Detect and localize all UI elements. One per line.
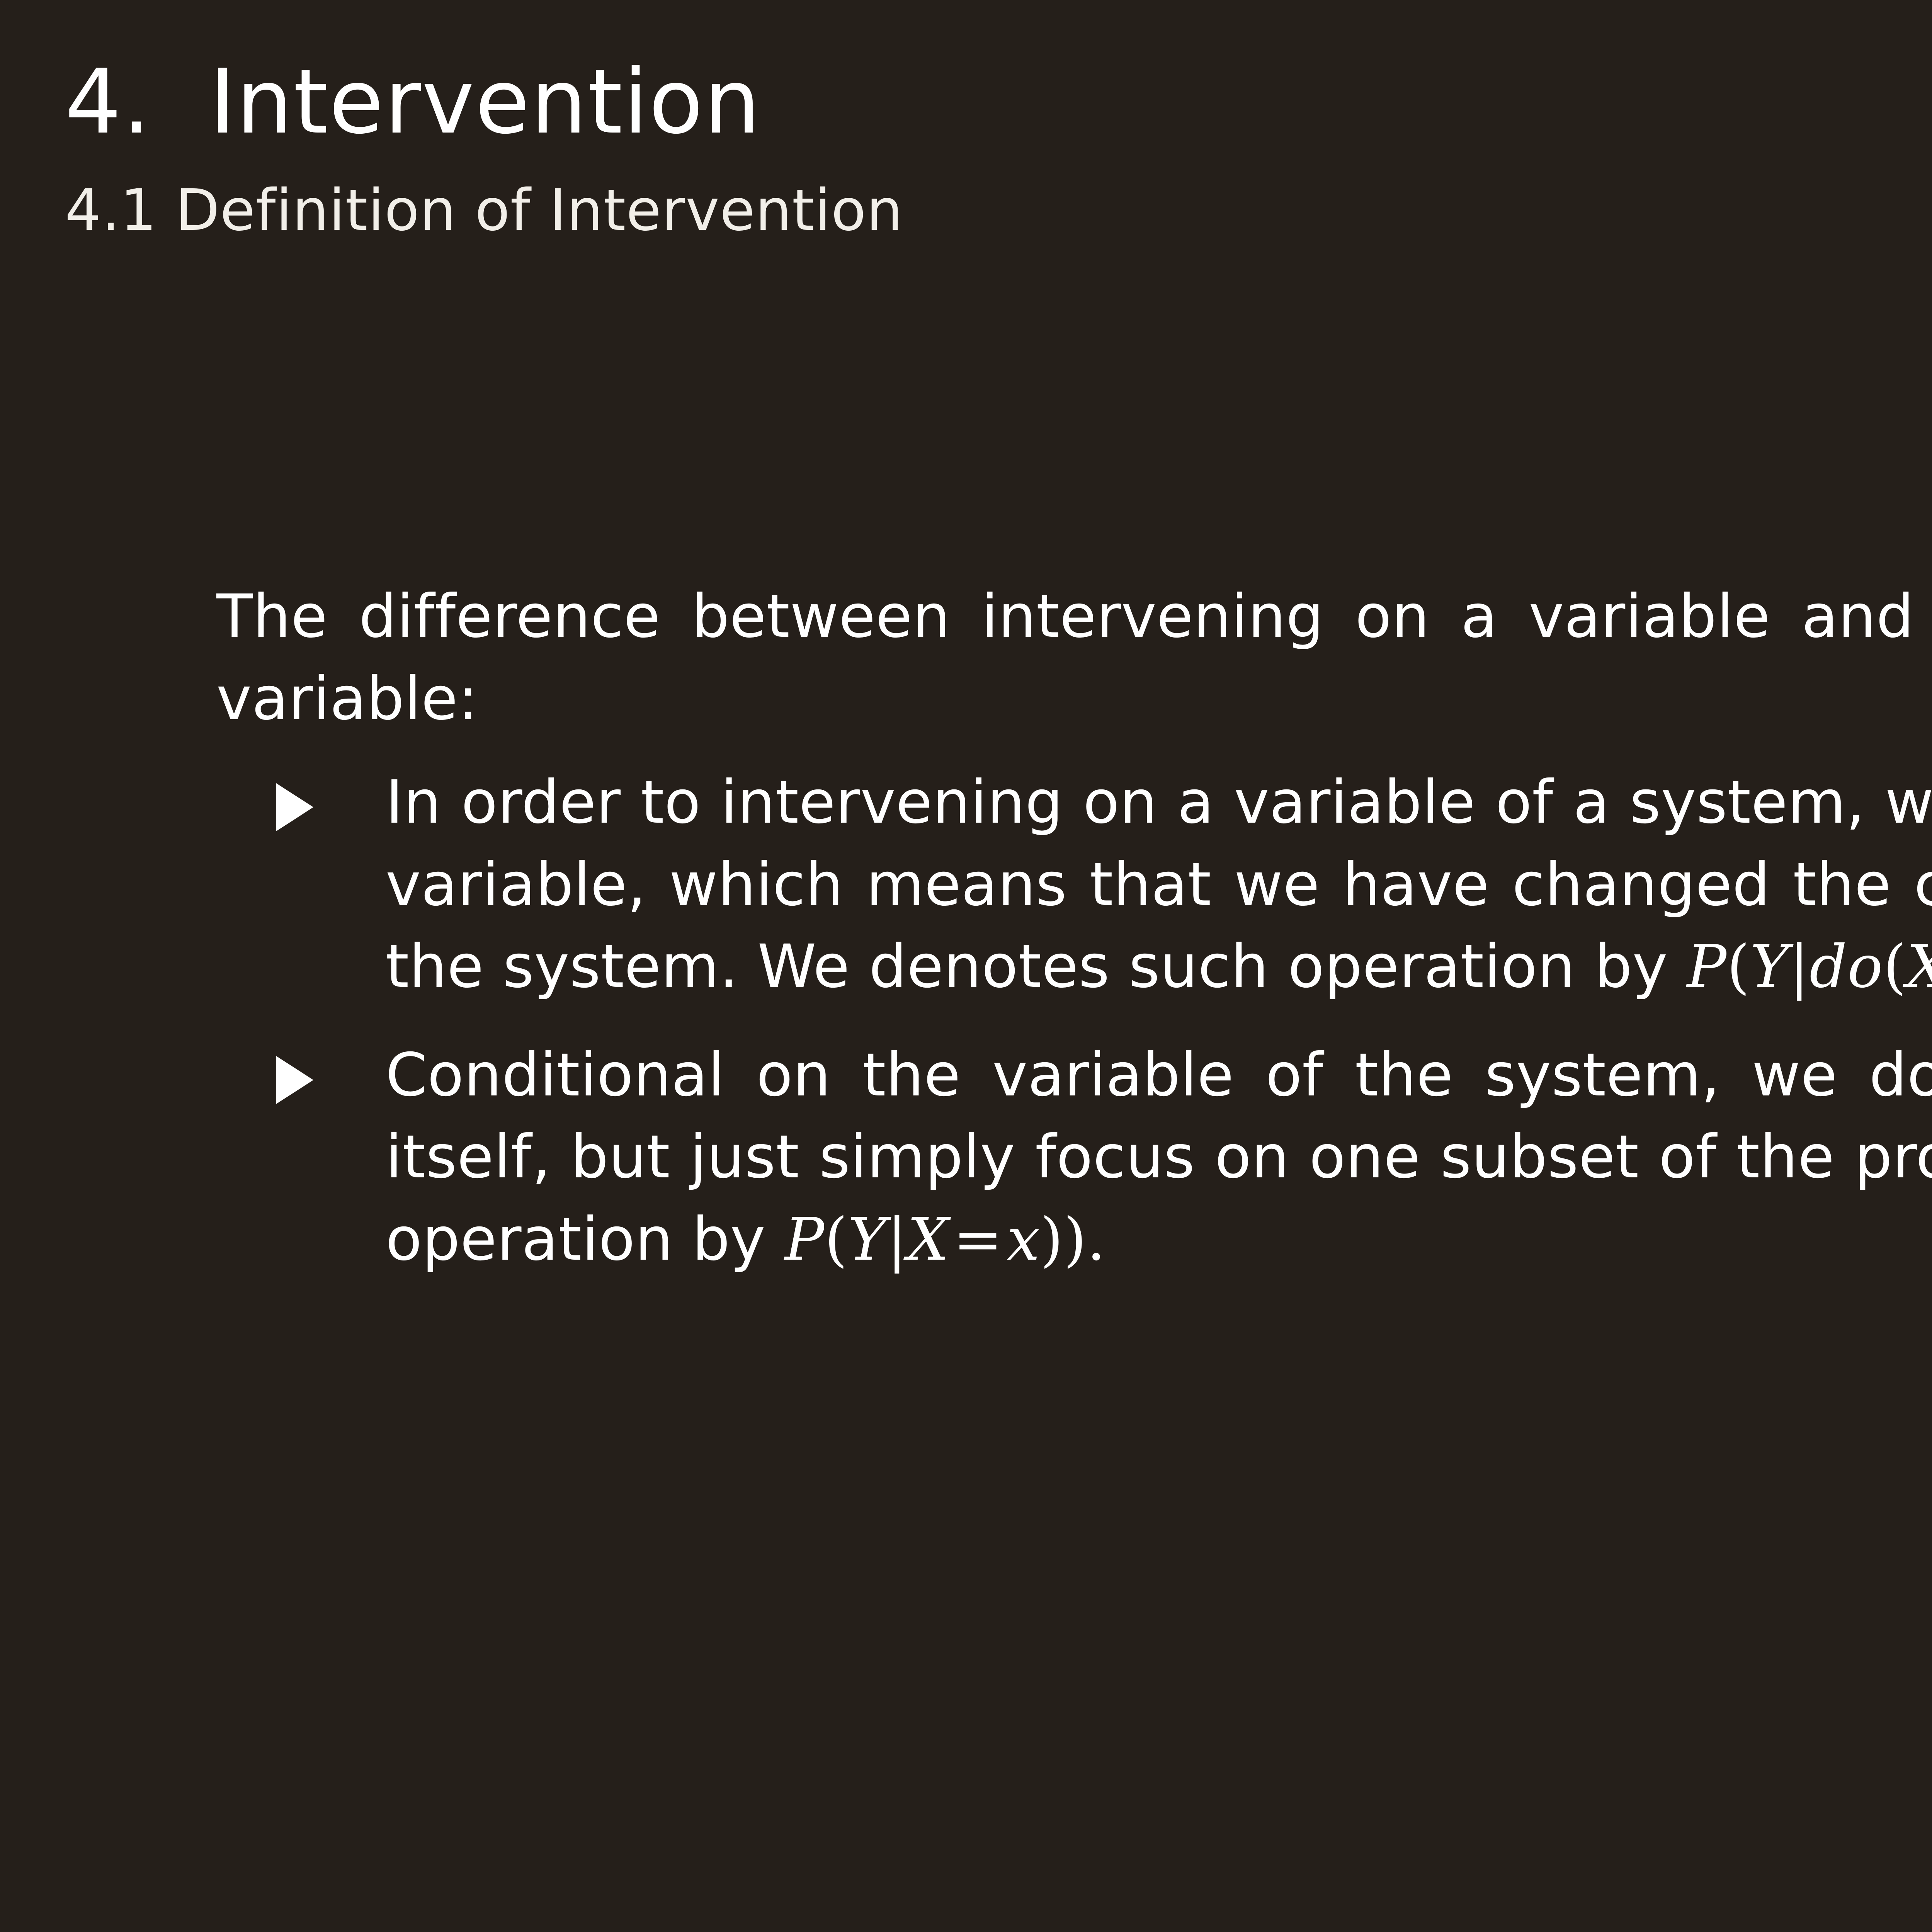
slide-body: The difference between intervening on a …	[216, 576, 1932, 1281]
page-subtitle: 4.1 Definition of Intervention	[65, 182, 1932, 239]
bullet-list: In order to intervening on a variable of…	[216, 762, 1932, 1281]
triangle-right-icon	[276, 1056, 313, 1104]
intro-paragraph: The difference between intervening on a …	[216, 576, 1932, 740]
math-expression-cond: P(Y|X=x)).	[785, 1205, 1106, 1274]
list-item: In order to intervening on a variable of…	[216, 762, 1932, 1008]
slide-canvas: 4. Intervention 4.1 Definition of Interv…	[0, 0, 1932, 1932]
bullet-text: Conditional on the variable of the syste…	[386, 1041, 1932, 1274]
list-item: Conditional on the variable of the syste…	[216, 1034, 1932, 1281]
math-expression-do: P(Y|do(X=x)).	[1687, 932, 1932, 1001]
triangle-right-icon	[276, 783, 313, 831]
page-title: 4. Intervention	[65, 58, 1932, 147]
header: 4. Intervention 4.1 Definition of Interv…	[65, 58, 1932, 239]
